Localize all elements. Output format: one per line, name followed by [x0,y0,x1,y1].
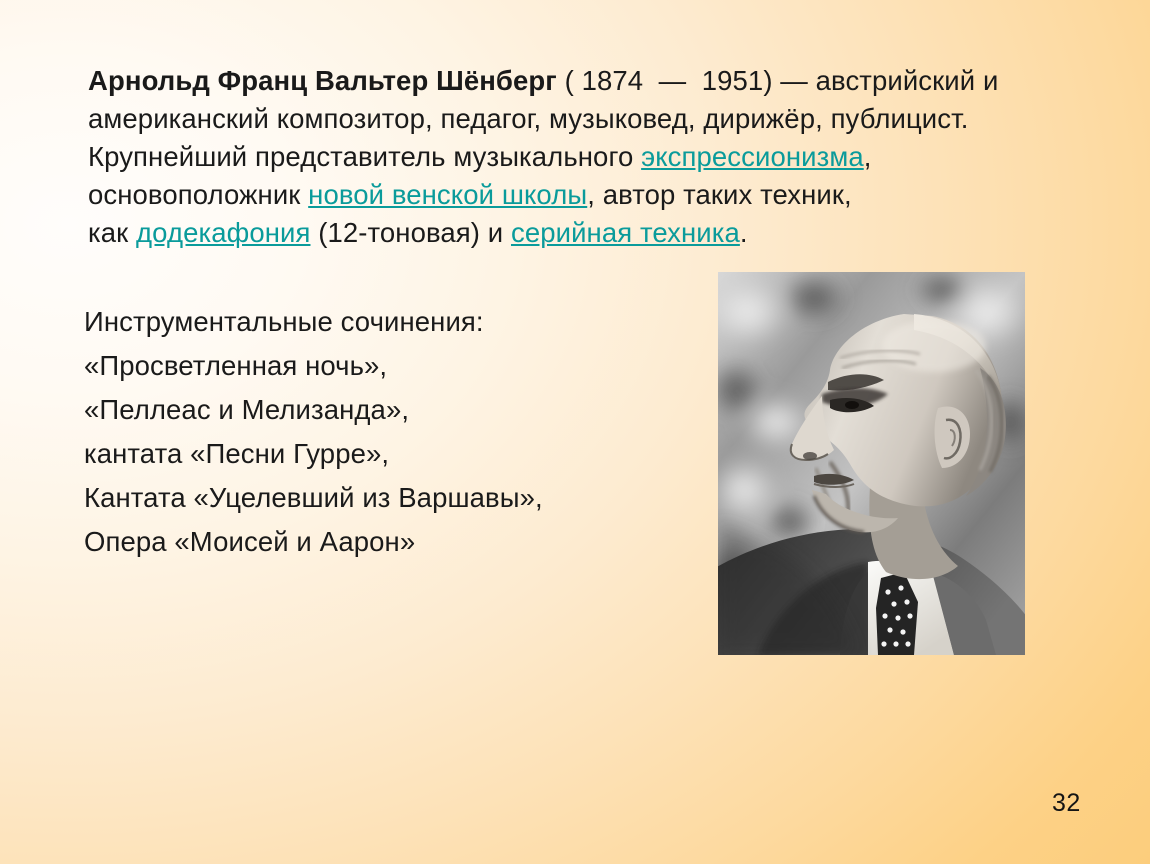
work-item: кантата «Песни Гурре», [84,432,684,476]
intro-paragraph: Арнольд Франц Вальтер Шёнберг ( 1874 — 1… [88,62,1068,252]
work-item: «Пеллеас и Мелизанда», [84,388,684,432]
intro-after-dodecaphony: (12-тоновая) и [310,217,511,248]
portrait-illustration [718,272,1025,655]
link-new-vienna-school[interactable]: новой венской школы [308,179,587,210]
page-number: 32 [1052,789,1081,818]
works-heading: Инструментальные сочинения: [84,300,684,344]
work-item: Опера «Моисей и Аарон» [84,520,684,564]
intro-after-serial-technique: . [740,217,748,248]
link-serial-technique[interactable]: серийная техника [511,217,740,248]
link-expressionism[interactable]: экспрессионизма [641,141,864,172]
slide-canvas: Арнольд Франц Вальтер Шёнберг ( 1874 — 1… [0,0,1150,864]
composer-portrait-photo [718,272,1025,655]
work-item: «Просветленная ночь», [84,344,684,388]
works-list: Инструментальные сочинения: «Просветленн… [84,300,684,564]
composer-name: Арнольд Франц Вальтер Шёнберг [88,65,557,96]
link-dodecaphony[interactable]: додекафония [136,217,310,248]
work-item: Кантата «Уцелевший из Варшавы», [84,476,684,520]
